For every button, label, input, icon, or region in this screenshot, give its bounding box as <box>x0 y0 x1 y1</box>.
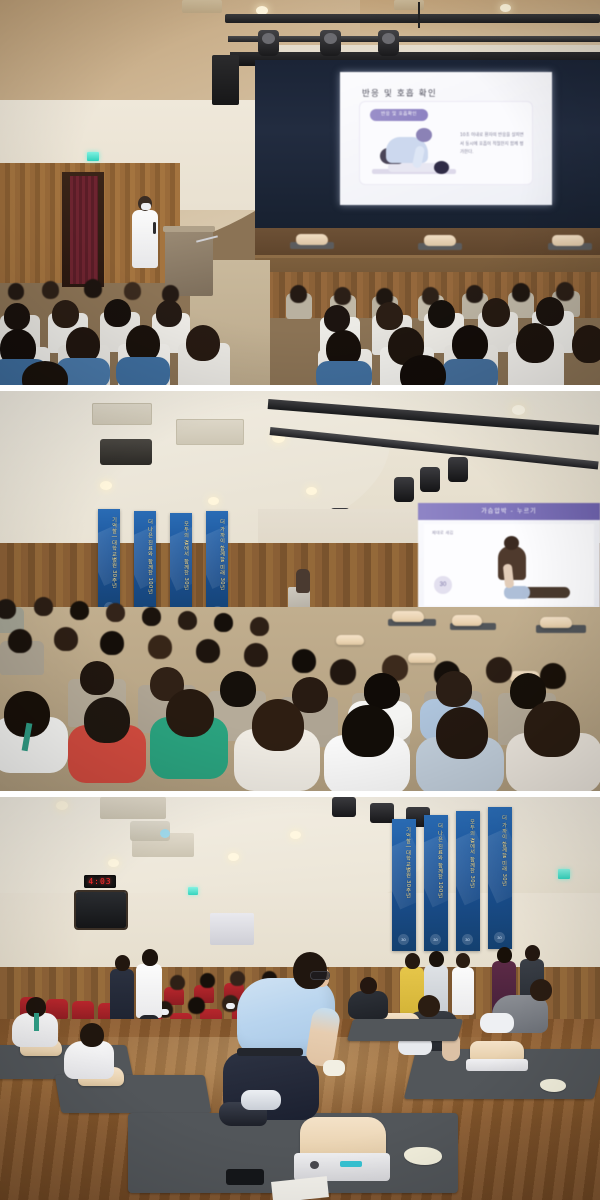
audience-head <box>188 997 205 1014</box>
photo-gallery: Instructor presenting CPR slide to seate… <box>0 0 600 1200</box>
practicing-participant <box>486 979 570 1053</box>
audience-head <box>0 599 16 619</box>
stage-spotlight-icon <box>332 797 356 817</box>
audience-head <box>8 629 32 653</box>
audience-head <box>52 300 79 328</box>
photo-auditorium-wide-view[interactable]: Wide auditorium view with anniversary ba… <box>0 391 600 791</box>
banner-logo: 30 <box>494 932 505 943</box>
projector-lens-icon <box>160 829 170 838</box>
stage-spotlight-icon <box>420 467 440 492</box>
stage-spotlight-icon <box>394 477 414 502</box>
anniversary-banner: 기억할 | 대학교병원 30주년 30 <box>392 819 416 951</box>
audience-head <box>8 283 24 300</box>
audience-head <box>452 325 488 363</box>
led-clock-value: 4:03 <box>84 875 116 888</box>
audience-head <box>376 302 403 330</box>
audience-head <box>54 627 78 651</box>
glasses-icon <box>311 972 329 979</box>
slide-tag: 제대로 새김 <box>432 530 453 536</box>
audience-head-foreground <box>342 705 394 757</box>
smartphone <box>226 1169 264 1185</box>
manikin-button <box>310 1161 319 1169</box>
audience-head <box>486 657 512 683</box>
cpr-manikin <box>296 234 328 245</box>
lanyard-icon <box>34 1013 39 1031</box>
audience-head <box>250 617 269 636</box>
audience-head-foreground <box>84 697 130 743</box>
audience-head <box>364 673 400 709</box>
exit-sign-icon <box>87 152 99 161</box>
audience-head <box>84 279 102 298</box>
banner-text: 더 나은 진료와 함께한 100년 <box>137 519 153 594</box>
ceiling-light <box>500 4 511 12</box>
audience-head <box>156 300 182 327</box>
audience-head <box>80 661 114 695</box>
stage-spotlight-icon <box>320 30 341 56</box>
lighting-truss <box>225 14 600 23</box>
manikin-base <box>466 1059 528 1071</box>
ceiling-projector <box>100 439 152 465</box>
audience-shoulder <box>116 357 170 385</box>
audience-head <box>70 601 89 620</box>
foreground-trainee <box>215 952 375 1142</box>
manikin-indicator <box>340 1161 362 1167</box>
audience-head <box>42 281 59 299</box>
audience-area <box>0 597 600 791</box>
audience-head <box>186 325 220 361</box>
banner-text: 더 가까이 함께할 미래 30년 <box>209 519 225 591</box>
ceiling-vent <box>92 403 152 425</box>
ceiling-light <box>512 405 525 415</box>
audience-head <box>214 613 233 632</box>
ceiling-vent <box>176 419 244 445</box>
ceiling-speaker <box>212 55 239 105</box>
practicing-participant <box>8 997 68 1059</box>
cpr-illustration-icon <box>372 126 456 180</box>
anniversary-banner: 더 나은 진료와 함께한 100년 30 <box>424 815 448 951</box>
slide-title: 반응 및 호흡 확인 <box>362 87 437 99</box>
cpr-manikin <box>552 235 584 246</box>
trainee-shoe-sole <box>241 1090 281 1110</box>
face-mask-icon <box>141 203 151 210</box>
ceiling-light <box>56 801 68 810</box>
audience-head-foreground <box>166 689 214 737</box>
slide-marker: 30 <box>434 576 452 594</box>
slide-body-text: 10초 이내로 환자의 반응을 살피면서 동시에 호흡이 적절한지 함께 평가한… <box>460 132 526 158</box>
audience-head <box>170 975 185 990</box>
stage-spotlight-icon <box>370 803 394 823</box>
audience-head <box>466 285 483 303</box>
audience-head <box>34 597 53 616</box>
lighting-truss-secondary <box>228 36 600 42</box>
audience-head-foreground <box>400 355 446 385</box>
audience-head <box>516 323 554 363</box>
audience-head <box>244 643 268 667</box>
audience-head-foreground <box>524 701 580 757</box>
audience-head <box>200 973 215 988</box>
projection-screen: 반응 및 호흡 확인 반응 및 호흡확인 10초 이내로 환자의 반응을 살피면… <box>340 72 552 205</box>
ceiling-light <box>100 481 112 490</box>
banner-logo: 30 <box>462 934 473 945</box>
audience-head <box>572 325 600 363</box>
ceiling-vent <box>182 0 222 13</box>
banner-text: 기억할 | 대학교병원 30주년 <box>101 517 117 589</box>
banner-logo: 30 <box>398 934 409 945</box>
exit-sign-icon <box>558 869 570 879</box>
cpr-manikin <box>424 235 456 246</box>
audience-head <box>330 659 356 685</box>
audience-head <box>124 282 141 300</box>
audience-head-foreground <box>252 699 304 751</box>
slide-title: 가슴압박 - 누르기 <box>418 503 600 520</box>
latex-gloves <box>404 1147 442 1165</box>
stage-spotlight-icon <box>258 30 279 56</box>
audience-head <box>512 283 530 302</box>
ceiling-vent <box>100 797 166 819</box>
hanging-cable <box>418 2 420 28</box>
anniversary-banner: 더 가까이 함께할 미래 30년 30 <box>488 807 512 949</box>
audience-head-foreground <box>436 707 488 759</box>
audience-shoulder <box>442 359 498 385</box>
banner-text: 더 나은 진료와 함께한 100년 <box>427 823 443 898</box>
presenter <box>296 569 310 593</box>
seat <box>72 1001 94 1021</box>
banner-text: 더 가까이 함께할 미래 30년 <box>491 815 507 887</box>
audience-head <box>334 287 351 305</box>
photo-lecture-hall-presentation[interactable]: Instructor presenting CPR slide to seate… <box>0 0 600 385</box>
audience-head <box>536 297 564 326</box>
audience-area <box>0 255 600 385</box>
audience-head <box>148 635 172 659</box>
latex-gloves <box>540 1079 566 1092</box>
audience-head <box>292 649 316 673</box>
manikin-base-foreground <box>294 1153 390 1181</box>
audience-head <box>482 298 510 327</box>
exit-sign-icon <box>188 887 198 895</box>
audience-head <box>428 300 455 328</box>
slide-badge: 반응 및 호흡확인 <box>370 109 428 121</box>
audience-head <box>324 305 350 332</box>
ceiling-light <box>208 497 219 505</box>
slide-content-card: 제대로 새김 30 <box>424 524 594 606</box>
projection-screen: 가슴압박 - 누르기 제대로 새김 30 <box>418 503 600 610</box>
audience-head <box>142 607 161 626</box>
audience-head <box>220 671 256 707</box>
audience-head <box>556 282 574 301</box>
audience-head <box>104 299 131 327</box>
audience-head <box>196 639 220 663</box>
audience-head <box>178 611 197 630</box>
wall-screen <box>210 913 254 945</box>
audience-shoulder <box>316 361 372 385</box>
audience-head <box>100 631 124 655</box>
trainee-belt <box>237 1048 303 1056</box>
wall-monitor <box>76 892 126 928</box>
audience-head <box>4 303 30 330</box>
banner-text: 모두의 곁에서 함께한 30년 <box>459 819 475 889</box>
audience-head <box>290 285 307 303</box>
anniversary-banner: 모두의 곁에서 함께한 30년 30 <box>456 811 480 951</box>
trainee-head <box>293 952 327 989</box>
led-clock-display: 4:03 <box>84 875 116 888</box>
stage-spotlight-icon <box>378 30 399 56</box>
audience-head <box>106 603 125 622</box>
practicing-participant <box>60 1023 126 1091</box>
banner-text: 기억할 | 대학교병원 30주년 <box>395 827 411 899</box>
ceiling-light <box>306 487 317 495</box>
photo-hands-on-cpr-practice[interactable]: Participants practicing chest compressio… <box>0 797 600 1200</box>
ceiling-light <box>228 853 239 861</box>
audience-head <box>436 671 472 707</box>
standing-observer <box>110 955 134 1027</box>
stage-spotlight-icon <box>448 457 468 482</box>
banner-text: 모두의 곁에서 함께한 30년 <box>173 521 189 591</box>
banner-logo: 30 <box>430 934 441 945</box>
podium-top <box>163 226 215 232</box>
microphone-icon <box>153 222 156 234</box>
slide-content-card: 반응 및 호흡확인 10초 이내로 환자의 반응을 살피면서 동시에 호흡이 적… <box>360 102 532 184</box>
ceiling-light <box>108 859 119 867</box>
latex-gloves <box>323 1060 345 1076</box>
cpr-illustration-icon <box>482 542 572 600</box>
ceiling-light <box>290 831 301 839</box>
